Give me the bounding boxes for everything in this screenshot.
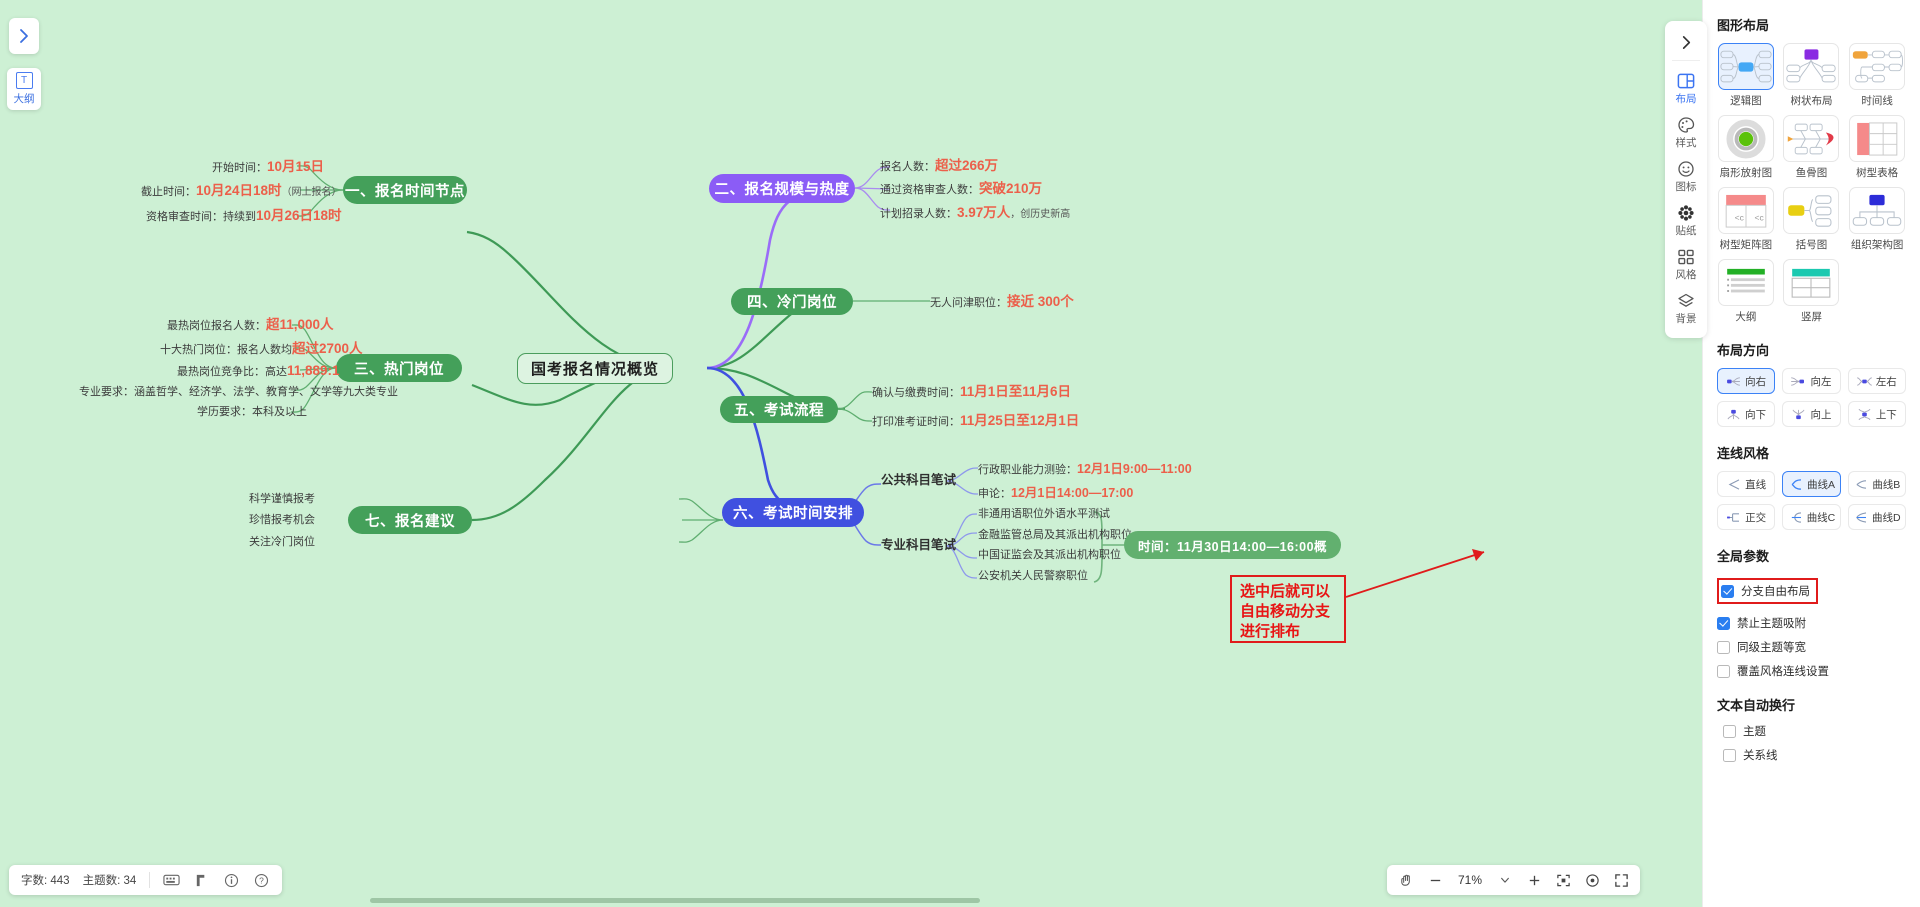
leaf-6-1-2[interactable]: 申论：12月1日14:00—17:00	[978, 486, 1133, 502]
direction-up-icon	[1791, 409, 1806, 420]
direction-both-vertical-icon	[1857, 409, 1872, 420]
rail-item-sticker-label: 贴纸	[1676, 223, 1697, 238]
direction-both-horizontal-icon	[1857, 376, 1872, 387]
leaf-6-2-1-pre: 非通用语职位外语水平测试	[978, 508, 1110, 520]
checkbox-wrap-topic-label: 主题	[1743, 723, 1766, 739]
leaf-3-5[interactable]: 学历要求：本科及以上	[197, 406, 307, 420]
checkbox-free-layout-label: 分支自由布局	[1741, 583, 1810, 599]
line-option-straight[interactable]: 直线	[1717, 471, 1775, 497]
leaf-2-3[interactable]: 计划招录人数：3.97万人，创历史新高	[880, 205, 1070, 222]
direction-right-icon	[1726, 376, 1741, 387]
leaf-7-3[interactable]: 关注冷门岗位	[249, 536, 315, 550]
leaf-1-3-hi: 10月26日18时	[256, 208, 342, 223]
leaf-5-2[interactable]: 打印准考证时间：11月25日至12月1日	[872, 413, 1079, 430]
branch-node-6[interactable]: 六、考试时间安排	[722, 498, 864, 527]
line-option-straight-label: 直线	[1745, 477, 1766, 492]
leaf-2-1-pre: 报名人数：	[880, 161, 935, 173]
sticker-icon	[1677, 203, 1696, 222]
svg-text:<c: <c	[1754, 212, 1764, 222]
sub-node-6-2-label: 专业科目笔试	[881, 538, 956, 552]
fishbone-thumb	[1783, 115, 1839, 162]
rail-item-theme-label: 风格	[1676, 267, 1697, 282]
line-option-curve-c-label: 曲线C	[1807, 510, 1836, 525]
leaf-7-2-pre: 珍惜报考机会	[249, 514, 315, 526]
tree-layout-thumb	[1783, 43, 1839, 90]
layout-option-vertical[interactable]: 竖屏	[1783, 259, 1841, 324]
outline-icon: T	[16, 72, 33, 89]
outline-tool-label: 大纲	[14, 91, 35, 106]
leaf-2-3-post: ，创历史新高	[1010, 209, 1070, 220]
leaf-7-1-pre: 科学谨慎报考	[249, 493, 315, 505]
leaf-5-1-hi: 11月1日至11月6日	[960, 384, 1071, 399]
leaf-4-1[interactable]: 无人问津职位：接近 300个	[930, 294, 1074, 311]
help-icon[interactable]: ?	[253, 872, 270, 889]
leaf-3-1[interactable]: 最热岗位报名人数：超11,000人	[167, 317, 334, 334]
branch-3-label: 三、热门岗位	[354, 358, 444, 379]
leaf-1-1[interactable]: 开始时间：10月15日	[212, 159, 324, 176]
svg-text:<c: <c	[1734, 212, 1744, 222]
rail-item-background-label: 背景	[1676, 311, 1697, 326]
leaf-1-3[interactable]: 资格审查时间：持续到10月26日18时	[146, 208, 342, 225]
checkbox-disable-snap[interactable]	[1717, 617, 1730, 630]
outline-layout-thumb	[1718, 259, 1774, 306]
direction-option-both-h-label: 左右	[1876, 374, 1897, 389]
branch-node-2[interactable]: 二、报名规模与热度	[709, 174, 855, 203]
connector-wires	[0, 0, 1702, 880]
app-root: T 大纲 国考报名情况概览 一、报名时间节点 二、报名规模与热度 三、热门岗位 …	[0, 0, 1920, 907]
radial-fan-thumb	[1718, 115, 1774, 162]
line-straight-icon	[1726, 479, 1741, 490]
layout-icon	[1677, 71, 1696, 90]
leaf-5-2-pre: 打印准考证时间：	[872, 416, 960, 428]
leaf-1-1-pre: 开始时间：	[212, 162, 267, 174]
checkbox-row-wrap-topic[interactable]: 主题	[1723, 723, 1906, 739]
leaf-6-2-3-pre: 中国证监会及其派出机构职位	[978, 549, 1121, 561]
leaf-6-1-2-pre: 申论：	[978, 488, 1011, 500]
branch-node-7b[interactable]: 七、报名建议	[348, 506, 472, 534]
leaf-4-1-pre: 无人问津职位：	[930, 297, 1007, 309]
chevron-right-icon	[1679, 35, 1694, 50]
line-option-orthogonal-label: 正交	[1745, 510, 1766, 525]
annotation-line-2: 自由移动分支	[1240, 602, 1336, 622]
leaf-3-2-pre: 十大热门岗位：报名人数均	[160, 344, 292, 356]
style-grid-icon	[1677, 247, 1696, 266]
leaf-6-2-4-pre: 公安机关人民警察职位	[978, 570, 1088, 582]
line-curve-d-icon	[1853, 512, 1868, 523]
leaf-6-1-2-hi: 12月1日14:00—17:00	[1011, 486, 1133, 500]
keyboard-icon[interactable]	[163, 872, 180, 889]
layout-option-org-chart-label: 组织架构图	[1851, 237, 1904, 252]
org-chart-thumb	[1849, 187, 1905, 234]
tree-table-thumb	[1849, 115, 1905, 162]
checkbox-equal-width-label: 同级主题等宽	[1737, 639, 1806, 655]
palette-icon	[1677, 115, 1696, 134]
leaf-6-2-2-pre: 金融监管总局及其派出机构职位	[978, 529, 1132, 541]
leaf-3-3[interactable]: 最热岗位竞争比：高达11,889:1	[177, 363, 340, 380]
layout-option-fishbone[interactable]: 鱼骨图	[1783, 115, 1841, 180]
branch-4-label: 四、冷门岗位	[747, 291, 837, 312]
direction-option-left-label: 向左	[1810, 374, 1831, 389]
center-target-icon[interactable]	[1583, 871, 1601, 889]
checkbox-row-disable-snap[interactable]: 禁止主题吸附	[1717, 615, 1906, 631]
line-curve-c-icon	[1788, 512, 1803, 523]
line-option-orthogonal[interactable]: 正交	[1717, 504, 1775, 530]
rail-item-style[interactable]: 样式	[1665, 110, 1707, 154]
checkbox-override-line[interactable]	[1717, 665, 1730, 678]
mindmap-canvas-inner: T 大纲 国考报名情况概览 一、报名时间节点 二、报名规模与热度 三、热门岗位 …	[0, 0, 1702, 880]
sub-node-6-1[interactable]: 公共科目笔试	[881, 473, 956, 489]
right-icon-rail: 布局 样式 图标 贴纸 风格	[1665, 21, 1707, 338]
annotation-box: 选中后就可以 自由移动分支 进行排布	[1230, 575, 1346, 643]
leaf-2-3-pre: 计划招录人数：	[880, 208, 957, 220]
branch-node-4[interactable]: 四、冷门岗位	[731, 288, 853, 315]
leaf-3-4-pre: 专业要求：涵盖哲学、经济学、法学、教育学、文学等九大类专业	[79, 386, 398, 398]
checkbox-row-equal-width[interactable]: 同级主题等宽	[1717, 639, 1906, 655]
leaf-2-3-hi: 3.97万人	[957, 205, 1010, 220]
format-paint-icon[interactable]	[193, 872, 210, 889]
leaf-1-2-pre: 截止时间：	[141, 186, 196, 198]
fullscreen-icon[interactable]	[1612, 871, 1630, 889]
checkbox-row-free-layout[interactable]: 分支自由布局	[1721, 583, 1810, 599]
checkbox-wrap-relation[interactable]	[1723, 749, 1736, 762]
checkbox-wrap-relation-label: 关系线	[1743, 747, 1778, 763]
line-option-curve-a[interactable]: 曲线A	[1782, 471, 1840, 497]
line-orthogonal-icon	[1726, 512, 1741, 523]
direction-option-both-v[interactable]: 上下	[1848, 401, 1906, 427]
panel-collapse-button[interactable]	[1665, 27, 1707, 57]
line-option-curve-d-label: 曲线D	[1872, 510, 1901, 525]
direction-option-up[interactable]: 向上	[1782, 401, 1840, 427]
line-curve-b-icon	[1853, 479, 1868, 490]
layout-option-fishbone-label: 鱼骨图	[1796, 165, 1828, 180]
right-properties-panel: 图形布局 逻辑图	[1702, 0, 1920, 907]
leaf-6-1-1-pre: 行政职业能力测验：	[978, 464, 1077, 476]
layout-option-tree-table[interactable]: 树型表格	[1848, 115, 1906, 180]
line-style-section-title: 连线风格	[1717, 443, 1906, 462]
leaf-1-3-pre: 资格审查时间：持续到	[146, 211, 256, 223]
line-option-curve-a-label: 曲线A	[1807, 477, 1835, 492]
leaf-6-2-3[interactable]: 中国证监会及其派出机构职位	[978, 549, 1121, 563]
direction-option-up-label: 向上	[1810, 407, 1831, 422]
direction-down-icon	[1726, 409, 1741, 420]
canvas-horizontal-scrollbar[interactable]	[370, 898, 980, 903]
zoom-out-button[interactable]	[1426, 871, 1444, 889]
leaf-3-4[interactable]: 专业要求：涵盖哲学、经济学、法学、教育学、文学等九大类专业	[79, 386, 398, 400]
checkbox-override-line-label: 覆盖风格连线设置	[1737, 663, 1829, 679]
leaf-2-1[interactable]: 报名人数：超过266万	[880, 158, 998, 175]
layout-option-logic-label: 逻辑图	[1730, 93, 1762, 108]
zoom-in-button[interactable]	[1525, 871, 1543, 889]
leaf-2-2-pre: 通过资格审查人数：	[880, 184, 979, 196]
direction-option-right-label: 向右	[1745, 374, 1766, 389]
smiley-icon	[1677, 159, 1696, 178]
word-count-label: 字数: 443	[21, 872, 70, 888]
leaf-3-1-pre: 最热岗位报名人数：	[167, 320, 266, 332]
hand-tool-icon[interactable]	[1397, 871, 1415, 889]
rail-item-theme[interactable]: 风格	[1665, 242, 1707, 286]
callout-pill-label: 时间：11月30日14:00—16:00概	[1138, 536, 1327, 555]
mindmap-root-node[interactable]: 国考报名情况概览	[517, 353, 673, 384]
branch-node-3[interactable]: 三、热门岗位	[336, 354, 462, 382]
leaf-1-2-hi: 10月24日18时	[196, 183, 282, 198]
layout-option-bracket[interactable]: 括号图	[1783, 187, 1841, 252]
bracket-diagram-thumb	[1783, 187, 1839, 234]
leaf-2-2-hi: 突破210万	[979, 181, 1042, 196]
sub-node-6-2[interactable]: 专业科目笔试	[881, 538, 956, 554]
layout-option-logic[interactable]: 逻辑图	[1717, 43, 1775, 108]
leaf-5-2-hi: 11月25日至12月1日	[960, 413, 1079, 428]
layout-option-vertical-label: 竖屏	[1801, 309, 1822, 324]
topic-count-label: 主题数: 34	[83, 872, 137, 888]
tree-matrix-thumb: <c <c	[1718, 187, 1774, 234]
branch-node-1[interactable]: 一、报名时间节点	[343, 176, 467, 204]
layout-option-tree-matrix[interactable]: <c <c 树型矩阵图	[1717, 187, 1775, 252]
leaf-3-5-pre: 学历要求：本科及以上	[197, 406, 307, 418]
branch-node-5[interactable]: 五、考试流程	[720, 396, 838, 423]
rail-item-layout-label: 布局	[1676, 91, 1697, 106]
rail-item-icon[interactable]: 图标	[1665, 154, 1707, 198]
line-option-curve-d[interactable]: 曲线D	[1848, 504, 1906, 530]
leaf-3-1-hi: 超11,000人	[266, 317, 334, 332]
mindmap-canvas[interactable]: T 大纲 国考报名情况概览 一、报名时间节点 二、报名规模与热度 三、热门岗位 …	[0, 0, 1702, 907]
checkbox-row-override-line[interactable]: 覆盖风格连线设置	[1717, 663, 1906, 679]
layout-option-bracket-label: 括号图	[1796, 237, 1828, 252]
checkbox-disable-snap-label: 禁止主题吸附	[1737, 615, 1806, 631]
layout-option-radial-label: 扇形放射图	[1720, 165, 1773, 180]
branch-1-label: 一、报名时间节点	[345, 180, 465, 201]
leaf-2-2[interactable]: 通过资格审查人数：突破210万	[880, 181, 1042, 198]
text-wrap-section-title: 文本自动换行	[1717, 695, 1906, 714]
status-divider	[149, 872, 150, 888]
leaf-6-1-1-hi: 12月1日9:00—11:00	[1077, 462, 1192, 476]
direction-option-both-h[interactable]: 左右	[1848, 368, 1906, 394]
layout-option-timeline[interactable]: 时间线	[1848, 43, 1906, 108]
zoom-bar: 71%	[1387, 865, 1640, 895]
canvas-collapse-left-button[interactable]	[9, 18, 39, 54]
leaf-1-2-post: （网上报名）	[282, 187, 342, 198]
branch-6-label: 六、考试时间安排	[733, 502, 853, 523]
leaf-2-1-hi: 超过266万	[935, 158, 998, 173]
zoom-dropdown-icon[interactable]	[1496, 871, 1514, 889]
leaf-7-2[interactable]: 珍惜报考机会	[249, 514, 315, 528]
leaf-6-2-2[interactable]: 金融监管总局及其派出机构职位	[978, 529, 1132, 543]
vertical-screen-thumb	[1783, 259, 1839, 306]
layout-option-org-chart[interactable]: 组织架构图	[1848, 187, 1906, 252]
layout-option-outline-label: 大纲	[1735, 309, 1756, 324]
branch-2-label: 二、报名规模与热度	[715, 178, 850, 199]
branch-7-label: 七、报名建议	[365, 510, 455, 531]
line-option-curve-c[interactable]: 曲线C	[1782, 504, 1840, 530]
leaf-3-2[interactable]: 十大热门岗位：报名人数均超过2700人	[160, 341, 363, 358]
rail-item-layout[interactable]: 布局	[1665, 66, 1707, 110]
leaf-5-1-pre: 确认与缴费时间：	[872, 387, 960, 399]
rail-divider	[1672, 60, 1700, 61]
direction-section-title: 布局方向	[1717, 340, 1906, 359]
outline-tool-button[interactable]: T 大纲	[7, 68, 41, 110]
layout-option-tree-matrix-label: 树型矩阵图	[1720, 237, 1773, 252]
layers-icon	[1677, 291, 1696, 310]
leaf-6-1-1[interactable]: 行政职业能力测验：12月1日9:00—11:00	[978, 462, 1192, 478]
layout-option-timeline-label: 时间线	[1861, 93, 1893, 108]
direction-option-right[interactable]: 向右	[1717, 368, 1775, 394]
direction-option-both-v-label: 上下	[1876, 407, 1897, 422]
direction-option-down[interactable]: 向下	[1717, 401, 1775, 427]
direction-left-icon	[1791, 376, 1806, 387]
rail-item-icon-label: 图标	[1676, 179, 1697, 194]
fit-to-screen-icon[interactable]	[1554, 871, 1572, 889]
leaf-6-2-1[interactable]: 非通用语职位外语水平测试	[978, 508, 1110, 522]
direction-option-left[interactable]: 向左	[1782, 368, 1840, 394]
leaf-3-2-hi: 超过2700人	[292, 341, 363, 356]
branch-5-label: 五、考试流程	[734, 399, 824, 420]
root-label: 国考报名情况概览	[531, 358, 659, 379]
rail-item-background[interactable]: 背景	[1665, 286, 1707, 330]
leaf-1-2[interactable]: 截止时间：10月24日18时（网上报名）	[141, 183, 342, 200]
status-bar: 字数: 443 主题数: 34 ?	[9, 865, 282, 895]
layout-section-title: 图形布局	[1717, 15, 1906, 34]
checkbox-wrap-topic[interactable]	[1723, 725, 1736, 738]
leaf-3-3-hi: 11,889:1	[287, 363, 340, 378]
layout-grid: 逻辑图 树状布局	[1717, 43, 1906, 324]
leaf-1-1-hi: 10月15日	[267, 159, 324, 174]
checkbox-equal-width[interactable]	[1717, 641, 1730, 654]
chevron-right-icon	[16, 28, 32, 44]
direction-grid: 向右 向左 左右 向下 向上 上下	[1717, 368, 1906, 427]
checkbox-free-layout[interactable]	[1721, 585, 1734, 598]
layout-option-tree-label: 树状布局	[1790, 93, 1832, 108]
direction-option-down-label: 向下	[1745, 407, 1766, 422]
line-option-curve-b[interactable]: 曲线B	[1848, 471, 1906, 497]
global-params-section-title: 全局参数	[1717, 546, 1906, 565]
layout-option-tree-table-label: 树型表格	[1856, 165, 1898, 180]
line-curve-a-icon	[1788, 479, 1803, 490]
layout-option-radial[interactable]: 扇形放射图	[1717, 115, 1775, 180]
leaf-3-3-pre: 最热岗位竞争比：高达	[177, 366, 287, 378]
zoom-level-value[interactable]: 71%	[1455, 873, 1485, 887]
logic-diagram-thumb	[1718, 43, 1774, 90]
annotation-line-1: 选中后就可以	[1240, 582, 1336, 602]
line-style-grid: 直线 曲线A 曲线B 正交 曲线C 曲线D	[1717, 471, 1906, 530]
rail-item-sticker[interactable]: 贴纸	[1665, 198, 1707, 242]
svg-text:?: ?	[259, 875, 264, 885]
timeline-thumb	[1849, 43, 1905, 90]
checkbox-row-wrap-relation[interactable]: 关系线	[1723, 747, 1906, 763]
leaf-6-2-4[interactable]: 公安机关人民警察职位	[978, 570, 1088, 584]
free-layout-highlight-box: 分支自由布局	[1717, 578, 1818, 604]
layout-option-tree[interactable]: 树状布局	[1783, 43, 1841, 108]
annotation-line-3: 进行排布	[1240, 622, 1336, 642]
leaf-7-3-pre: 关注冷门岗位	[249, 536, 315, 548]
layout-option-outline[interactable]: 大纲	[1717, 259, 1775, 324]
sub-node-6-1-label: 公共科目笔试	[881, 473, 956, 487]
line-option-curve-b-label: 曲线B	[1872, 477, 1900, 492]
leaf-4-1-hi: 接近 300个	[1007, 294, 1074, 309]
callout-pill-node[interactable]: 时间：11月30日14:00—16:00概	[1124, 531, 1341, 559]
rail-item-style-label: 样式	[1676, 135, 1697, 150]
leaf-5-1[interactable]: 确认与缴费时间：11月1日至11月6日	[872, 384, 1071, 401]
info-icon[interactable]	[223, 872, 240, 889]
leaf-7-1[interactable]: 科学谨慎报考	[249, 493, 315, 507]
